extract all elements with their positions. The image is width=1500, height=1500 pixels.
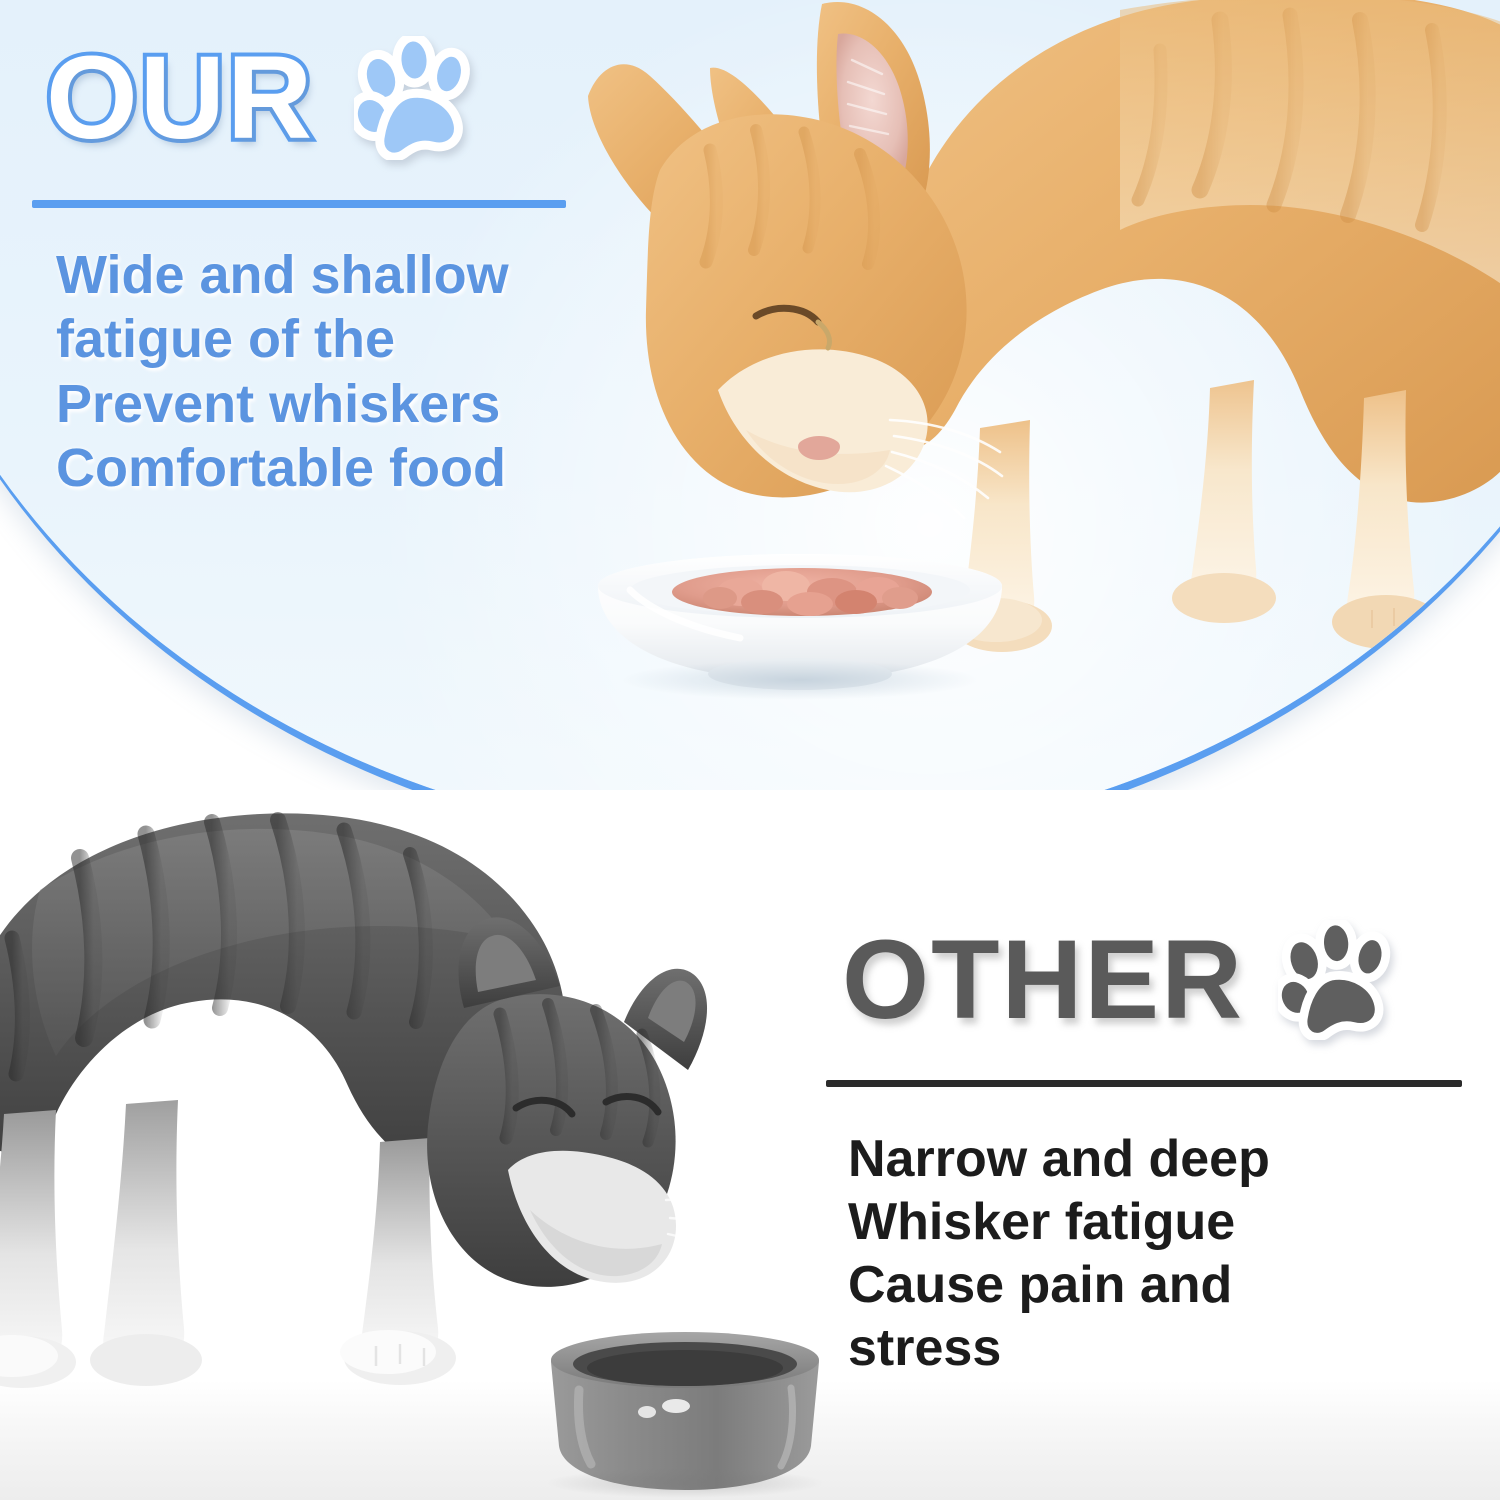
narrow-deep-bowl — [535, 1328, 835, 1500]
our-panel-content: OUR Wide and shallow fatigue of the Prev… — [0, 0, 1500, 845]
bowl-shadow — [545, 1468, 825, 1498]
our-divider — [32, 200, 566, 208]
paw-print-icon — [1278, 920, 1402, 1040]
other-heading-row: OTHER — [842, 920, 1402, 1040]
wide-shallow-dish — [590, 548, 1010, 708]
other-divider — [826, 1080, 1462, 1087]
paw-print-icon — [354, 36, 482, 160]
our-panel: OUR Wide and shallow fatigue of the Prev… — [0, 0, 1500, 854]
other-description: Narrow and deep Whisker fatigue Cause pa… — [848, 1128, 1468, 1380]
our-description: Wide and shallow fatigue of the Prevent … — [56, 243, 676, 500]
our-title: OUR — [46, 39, 314, 157]
comparison-infographic: OUR Wide and shallow fatigue of the Prev… — [0, 0, 1500, 1500]
other-title: OTHER — [842, 924, 1244, 1036]
dish-shadow — [620, 660, 980, 700]
our-heading-row: OUR — [46, 36, 482, 160]
